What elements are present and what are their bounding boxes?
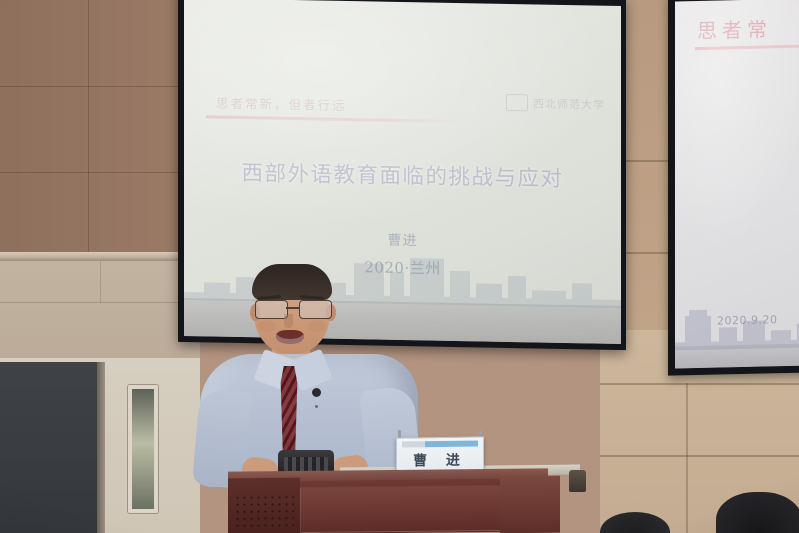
slide-header-motto: 思者常新，但者行远 (216, 93, 347, 114)
logo-label: 西北师范大学 (533, 95, 605, 112)
speaker-nose (284, 314, 293, 328)
side-date-watermark: 2020.9.20 (717, 313, 777, 327)
side-slide-rule (695, 44, 799, 50)
speaker-hair (252, 264, 332, 300)
podium-perforated-panel (234, 494, 294, 531)
university-logo: 西北师范大学 (506, 94, 605, 113)
door-opening[interactable] (0, 362, 103, 533)
slide-title: 西部外语教育面临的挑战与应对 (184, 155, 621, 194)
slide-header-rule (206, 115, 458, 122)
audience-head (716, 492, 799, 533)
presentation-photo-scene: 思者常新，但者行远 西北师范大学 西部外语教育面临的挑战与应对 曹进 2020·… (0, 0, 799, 533)
right-wall-seam (686, 383, 688, 533)
side-slide-canvas: 思者常 2020.9.20 (675, 0, 799, 369)
narrow-window (128, 385, 158, 513)
side-screen-shade (675, 343, 799, 368)
speaker-mouth (276, 330, 304, 344)
water-bottle[interactable] (569, 470, 586, 492)
podium-front-panel (300, 485, 502, 533)
door-jamb (97, 362, 105, 533)
wall-tile-seam (88, 0, 89, 255)
podium-right-section (500, 476, 560, 533)
wall-tile-seam (0, 172, 180, 173)
right-wall-seam (600, 455, 799, 457)
nameplate-color-strip (402, 440, 478, 447)
wall-panel-seam (100, 261, 101, 303)
wall-tile-seam (0, 86, 180, 87)
speaker-cheek-left (258, 320, 276, 332)
eyeglass-lens-right (299, 300, 332, 319)
nameplate-name: 曹 进 (397, 449, 483, 470)
side-slide-header: 思者常 (697, 13, 772, 44)
speaker-figure (196, 262, 426, 487)
eyeglass-bridge (286, 307, 299, 309)
speaker-cheek-right (308, 320, 326, 332)
lapel-microphone-icon (312, 388, 321, 397)
logo-emblem-icon (506, 94, 528, 111)
right-wall-seam (600, 383, 799, 385)
side-projection-screen[interactable]: 思者常 2020.9.20 (668, 0, 799, 376)
wall-cornice (0, 252, 200, 261)
